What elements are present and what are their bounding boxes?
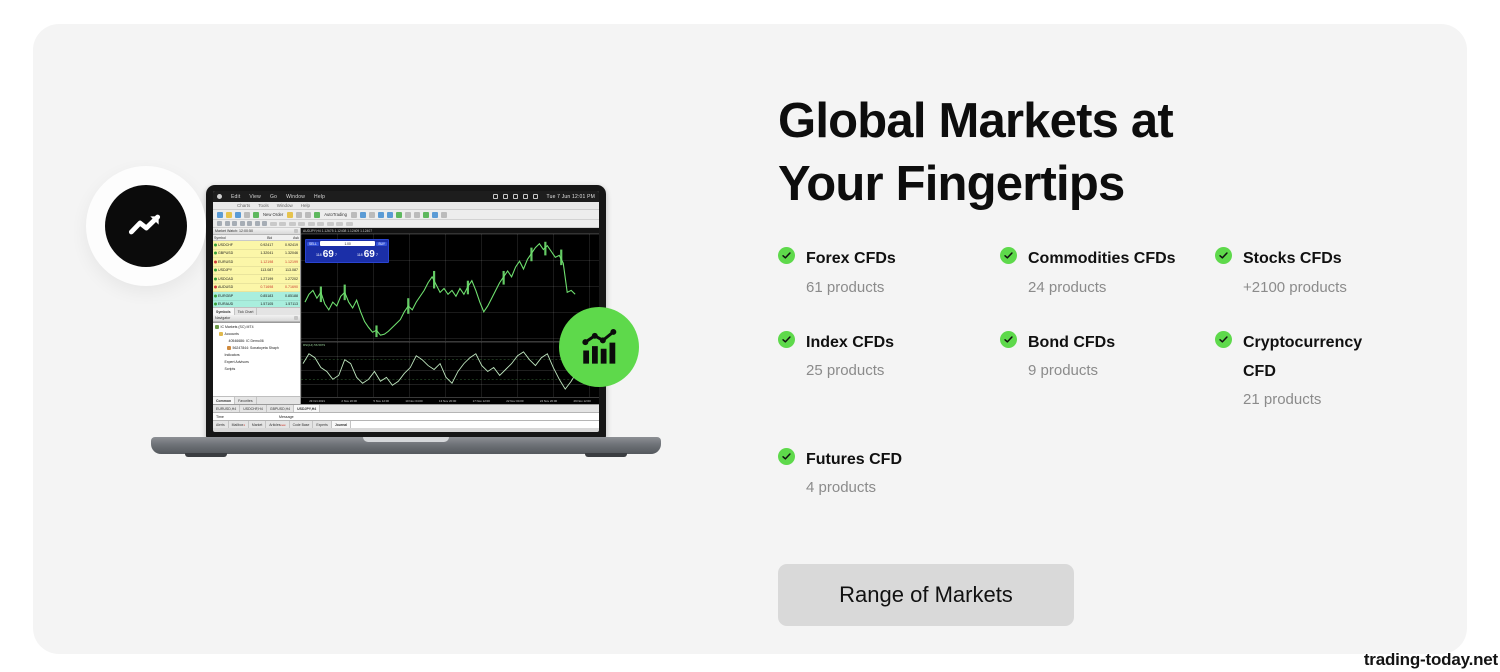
hero-content: Global Markets at Your Fingertips Forex … — [778, 90, 1467, 626]
menubar-clock: Tue 7 Jun 12:01 PM — [547, 194, 595, 200]
ask-cell: 1.32046 — [273, 251, 300, 255]
indicator-icon — [219, 353, 223, 357]
timeframe-mn[interactable] — [346, 222, 353, 226]
tab-favorites[interactable]: Favorites — [235, 397, 256, 404]
bid-cell: 1.27199 — [247, 277, 274, 281]
folder-icon — [219, 332, 223, 336]
feature-count: 21 products — [1243, 386, 1393, 415]
menubar-item-help[interactable]: Help — [314, 194, 325, 200]
trendline-icon[interactable] — [232, 221, 237, 226]
feature-item[interactable]: Bond CFDs 9 products — [1000, 328, 1215, 415]
column-bid: Bid — [247, 235, 274, 240]
feature-text: Forex CFDs 61 products — [806, 244, 896, 302]
siri-icon[interactable] — [533, 194, 538, 199]
symbol-cell: EURAUD — [213, 302, 247, 306]
chart-time-axis: 29 Oct 20212 Nov 20:005 Nov 12:0010 Nov … — [301, 397, 599, 404]
navigator-row[interactable]: Accounts — [213, 330, 300, 337]
time-axis-label: 29 Oct 2021 — [309, 399, 325, 403]
feature-count: 61 products — [806, 274, 896, 303]
menubar-item-go[interactable]: Go — [270, 194, 277, 200]
features-grid: Forex CFDs 61 products Commodities CFDs … — [778, 244, 1467, 414]
symbol-cell: USDCHF — [213, 243, 247, 247]
feature-text: Commodities CFDs 24 products — [1028, 244, 1176, 302]
account-icon — [223, 339, 227, 343]
data-window-icon[interactable] — [244, 212, 250, 218]
oct-buy-prefix: 118 — [357, 253, 363, 257]
feature-item[interactable]: Cryptocurrency CFD 21 products — [1215, 328, 1467, 415]
time-axis-label: 13 Nov 20:00 — [439, 399, 456, 403]
control-center-icon[interactable] — [513, 194, 518, 199]
check-circle-icon — [778, 331, 795, 348]
navigator-titlebar: Navigator — [213, 315, 300, 322]
chart-tab-usdjpy[interactable]: USDJPY,H4 — [294, 405, 320, 412]
symbol-cell: AUDUSD — [213, 285, 247, 289]
timeframe-m30[interactable] — [298, 222, 305, 226]
navigator-title: Navigator — [215, 316, 230, 320]
feature-text: Cryptocurrency CFD 21 products — [1243, 328, 1393, 415]
menubar-item-window[interactable]: Window — [286, 194, 305, 200]
ask-cell: 113.087 — [273, 268, 300, 272]
indicators-icon[interactable] — [423, 212, 429, 218]
articles-badge: new — [280, 423, 285, 427]
check-circle-icon — [1000, 247, 1017, 264]
time-axis-label: 17 Nov 12:00 — [473, 399, 490, 403]
navigator-label: 56247844: Sonatoyeta Shaph — [233, 346, 279, 350]
navigator-row[interactable]: Indicators — [213, 351, 300, 358]
macbook-mockup: Edit View Go Window Help — [206, 185, 606, 445]
timeframe-h1[interactable] — [308, 222, 315, 226]
screen-icon[interactable] — [503, 194, 508, 199]
feature-count: 25 products — [806, 357, 894, 386]
appmenu-item-window[interactable]: Window — [277, 203, 293, 208]
feature-count: 4 products — [806, 474, 902, 503]
feature-text: Bond CFDs 9 products — [1028, 328, 1115, 386]
mac-menubar: Edit View Go Window Help — [213, 191, 599, 202]
feature-count: 9 products — [1028, 357, 1115, 386]
check-circle-icon — [1215, 331, 1232, 348]
bid-cell: 113.087 — [247, 268, 274, 272]
time-axis-label: 22 Nov 04:00 — [506, 399, 523, 403]
apple-logo-icon — [217, 194, 222, 199]
autotrading-icon[interactable] — [314, 212, 320, 218]
market-watch-icon[interactable] — [235, 212, 241, 218]
headline-line-2: Your Fingertips — [778, 157, 1124, 211]
trending-badge — [86, 166, 206, 286]
auto-scroll-icon[interactable] — [396, 212, 402, 218]
ask-cell: 0.71690 — [273, 285, 300, 289]
feature-name: Stocks CFDs — [1243, 244, 1347, 273]
terminal-column-time: Time — [213, 415, 273, 419]
navigator-tabs: Common Favorites — [213, 396, 300, 404]
symbol-cell: EURUSD — [213, 260, 247, 264]
feature-name: Forex CFDs — [806, 244, 896, 273]
tab-common[interactable]: Common — [213, 397, 235, 404]
terminal-tab-code-base[interactable]: Code Base — [290, 421, 314, 428]
time-axis-label: 5 Nov 12:00 — [373, 399, 389, 403]
navigator-label: Expert Advisors — [225, 360, 249, 364]
navigator-label: Indicators — [225, 353, 240, 357]
chart-tab-usdchf[interactable]: USDCHF,H4 — [240, 405, 267, 412]
zoom-in-icon[interactable] — [378, 212, 384, 218]
time-axis-label: 24 Nov 20:00 — [540, 399, 557, 403]
market-watch-rows: USDCHF0.924170.92419GBPUSD1.320411.32046… — [213, 241, 300, 307]
mt4-chart-area: AUDJPY,H4 1.12675 1.12408 1.12409 1.1240… — [301, 228, 599, 404]
strategy-tester-icon[interactable] — [305, 212, 311, 218]
feature-item[interactable]: Stocks CFDs +2100 products — [1215, 244, 1467, 302]
ask-cell: 1.12199 — [273, 260, 300, 264]
user-icon — [227, 346, 231, 350]
feature-item[interactable]: Index CFDs 25 products — [778, 328, 1000, 415]
market-watch-row[interactable]: EURGBP0.851830.85188 — [213, 292, 300, 301]
laptop-screen: Edit View Go Window Help — [213, 191, 599, 432]
navigator-row[interactable]: 40546686: IC Demo06 — [213, 337, 300, 344]
oct-buy-sup: 7 — [376, 252, 378, 257]
laptop-foot-left — [185, 453, 227, 457]
print-icon[interactable] — [296, 212, 302, 218]
templates-icon[interactable] — [441, 212, 447, 218]
oct-controls: SELL 1.00 BUY — [306, 240, 388, 247]
oct-prices: 118 69 7 118 69 7 — [306, 247, 388, 262]
ask-cell: 0.92419 — [273, 243, 300, 247]
trending-badge-inner — [105, 185, 187, 267]
chart-badge — [559, 307, 639, 387]
trending-up-icon — [126, 206, 166, 246]
market-watch-panel[interactable]: Symbol Bid Ask USDCHF0.924170.92419GBPUS… — [213, 235, 300, 307]
channel-icon[interactable] — [240, 221, 245, 226]
mt4-workspace: Market Watch: 12:00:50 Symbol Bid Ask — [213, 228, 599, 404]
timeframe-m1[interactable] — [270, 222, 277, 226]
mailbox-badge: 1 — [243, 423, 245, 427]
root-icon — [215, 325, 219, 329]
feature-text: Stocks CFDs +2100 products — [1243, 244, 1347, 302]
appmenu-item-help[interactable]: Help — [301, 203, 310, 208]
chart-title: AUDJPY,H4 1.12675 1.12408 1.12409 1.1240… — [303, 229, 372, 233]
ask-cell: 1.27202 — [273, 277, 300, 281]
rsi-series — [301, 342, 599, 397]
terminal-tab-experts[interactable]: Experts — [313, 421, 332, 428]
crosshair-icon[interactable] — [225, 221, 230, 226]
label-tool-icon[interactable] — [255, 221, 260, 226]
feature-count: +2100 products — [1243, 274, 1347, 303]
profiles-icon[interactable] — [226, 212, 232, 218]
navigator-row[interactable]: Scripts — [213, 365, 300, 372]
navigator-label: IC Markets (SC) MT4 — [221, 325, 254, 329]
navigator-row[interactable]: IC Markets (SC) MT4 — [213, 323, 300, 330]
feature-item[interactable]: Forex CFDs 61 products — [778, 244, 1000, 302]
indicator-subchart[interactable]: RSI(14) 56.5979 — [301, 341, 599, 397]
feature-name: Index CFDs — [806, 328, 894, 357]
bid-cell: 0.85183 — [247, 294, 274, 298]
terminal-header: Time Message — [213, 412, 599, 420]
terminal-tab-market[interactable]: Market — [249, 421, 266, 428]
tab-symbols[interactable]: Symbols — [213, 308, 235, 315]
navigator-row[interactable]: 56247844: Sonatoyeta Shaph — [213, 344, 300, 351]
feature-name: Commodities CFDs — [1028, 244, 1176, 273]
oct-sell-sup: 7 — [335, 252, 337, 257]
symbol-cell: EURGBP — [213, 294, 247, 298]
mt4-left-dock: Market Watch: 12:00:50 Symbol Bid Ask — [213, 228, 301, 404]
timeframe-m15[interactable] — [289, 222, 296, 226]
menubar-item-view[interactable]: View — [249, 194, 261, 200]
oct-sell-big: 69 — [323, 250, 334, 260]
zoom-out-icon[interactable] — [387, 212, 393, 218]
bid-cell: 1.57105 — [247, 302, 274, 306]
laptop-base — [151, 437, 661, 454]
oct-buy-label[interactable]: BUY — [376, 242, 387, 246]
bid-cell: 1.32041 — [247, 251, 274, 255]
menubar-status-icons — [493, 194, 538, 199]
navigator-label: Accounts — [225, 332, 239, 336]
feature-name: Cryptocurrency CFD — [1243, 328, 1393, 386]
timeframe-w1[interactable] — [336, 222, 343, 226]
oct-sell-label[interactable]: SELL — [307, 242, 319, 246]
feature-item[interactable]: Commodities CFDs 24 products — [1000, 244, 1215, 302]
oct-volume-input[interactable]: 1.00 — [320, 241, 376, 246]
one-click-trading-panel[interactable]: SELL 1.00 BUY 118 69 — [305, 239, 389, 263]
time-axis-label: 29 Nov 12:00 — [574, 399, 591, 403]
new-order-icon[interactable] — [253, 212, 259, 218]
menubar-item-edit[interactable]: Edit — [231, 194, 240, 200]
feature-text: Futures CFD 4 products — [806, 445, 902, 503]
tab-tick-chart[interactable]: Tick Chart — [235, 308, 258, 315]
grid-icon[interactable] — [414, 212, 420, 218]
battery-icon[interactable] — [493, 194, 498, 199]
ask-cell: 0.85188 — [273, 294, 300, 298]
chart-shift-icon[interactable] — [405, 212, 411, 218]
time-axis-label: 2 Nov 20:00 — [341, 399, 357, 403]
indicator-icon — [219, 367, 223, 371]
appmenu-item-charts[interactable]: Charts — [237, 203, 250, 208]
range-of-markets-button[interactable]: Range of Markets — [778, 564, 1074, 626]
close-icon[interactable] — [294, 229, 298, 233]
timeframe-m5[interactable] — [279, 222, 286, 226]
market-watch-row[interactable]: EURUSD1.121981.12199 — [213, 258, 300, 267]
symbol-cell: GBPUSD — [213, 251, 247, 255]
market-watch-titlebar: Market Watch: 12:00:50 — [213, 228, 300, 235]
chart-tab-eurusd[interactable]: EURUSD,H4 — [213, 405, 240, 412]
cursor-icon[interactable] — [217, 221, 222, 226]
oct-buy-price[interactable]: 118 69 7 — [347, 247, 388, 262]
navigator-row[interactable]: Expert Advisors — [213, 358, 300, 365]
bid-cell: 0.71698 — [247, 285, 274, 289]
market-watch-row[interactable]: AUDUSD0.716980.71690 — [213, 284, 300, 293]
terminal-input-area[interactable] — [351, 421, 599, 428]
market-watch-tabs: Symbols Tick Chart — [213, 307, 300, 315]
oct-buy-big: 69 — [364, 250, 375, 260]
text-tool-icon[interactable] — [247, 221, 252, 226]
hero-card: Edit View Go Window Help — [33, 24, 1467, 654]
column-symbol: Symbol — [213, 235, 247, 240]
navigator-label: Scripts — [225, 367, 236, 371]
market-watch-row[interactable]: USDCAD1.271991.27202 — [213, 275, 300, 284]
bar-chart-icon — [578, 326, 620, 368]
terminal-column-message: Message — [273, 415, 294, 419]
laptop-lid: Edit View Go Window Help — [206, 185, 606, 439]
page-root: Edit View Go Window Help — [0, 0, 1500, 672]
price-chart[interactable]: SELL 1.00 BUY 118 69 — [301, 234, 599, 341]
bid-cell: 1.12198 — [247, 260, 274, 264]
market-watch-title: Market Watch: 12:00:50 — [215, 229, 253, 233]
feature-item[interactable]: Futures CFD 4 products — [778, 445, 1467, 503]
market-watch-row[interactable]: USDJPY113.087113.087 — [213, 267, 300, 276]
search-icon[interactable] — [523, 194, 528, 199]
check-circle-icon — [778, 448, 795, 465]
timeframes-icon[interactable] — [432, 212, 438, 218]
watermark: trading-today.net — [1364, 650, 1498, 670]
line-chart-type-icon[interactable] — [369, 212, 375, 218]
laptop-foot-right — [585, 453, 627, 457]
check-circle-icon — [1000, 331, 1017, 348]
candle-chart-type-icon[interactable] — [360, 212, 366, 218]
mt4-line-studies-toolbar — [213, 220, 599, 228]
chart-window-tabs: EURUSD,H4USDCHF,H4GBPUSD,H4USDJPY,H4 — [213, 404, 599, 412]
market-watch-row[interactable]: USDCHF0.924170.92419 — [213, 241, 300, 250]
check-circle-icon — [778, 247, 795, 264]
headline-line-1: Global Markets at — [778, 94, 1173, 148]
close-icon[interactable] — [294, 316, 298, 320]
feature-name: Futures CFD — [806, 445, 902, 474]
terminal-tabs: AlertsMailbox1MarketArticlesnewCode Base… — [213, 420, 599, 428]
oct-sell-price[interactable]: 118 69 7 — [306, 247, 347, 262]
timeframe-d1[interactable] — [327, 222, 334, 226]
chart-tab-gbpusd[interactable]: GBPUSD,H4 — [267, 405, 294, 412]
feature-text: Index CFDs 25 products — [806, 328, 894, 386]
mt4-app-menu: Charts Tools Window Help — [213, 202, 599, 210]
navigator-panel[interactable]: IC Markets (SC) MT4Accounts40546686: IC … — [213, 322, 300, 396]
arrow-tool-icon[interactable] — [262, 221, 267, 226]
page-title: Global Markets at Your Fingertips — [778, 90, 1467, 215]
chart-tabs-filler — [320, 405, 599, 412]
terminal-tab-articles[interactable]: Articlesnew — [266, 421, 289, 428]
autotrading-label[interactable]: AutoTrading — [323, 212, 348, 217]
feature-count: 24 products — [1028, 274, 1176, 303]
laptop-visual: Edit View Go Window Help — [73, 144, 733, 544]
metaeditor-icon[interactable] — [287, 212, 293, 218]
terminal-tab-mailbox[interactable]: Mailbox1 — [229, 421, 249, 428]
terminal-tab-journal[interactable]: Journal — [332, 421, 351, 428]
time-axis-label: 10 Nov 04:00 — [405, 399, 422, 403]
feature-name: Bond CFDs — [1028, 328, 1115, 357]
new-order-label[interactable]: New Order — [262, 212, 284, 217]
market-watch-row[interactable]: GBPUSD1.320411.32046 — [213, 250, 300, 259]
ask-cell: 1.57113 — [273, 302, 300, 306]
symbol-cell: USDCAD — [213, 277, 247, 281]
navigator-label: 40546686: IC Demo06 — [229, 339, 264, 343]
timeframe-h4[interactable] — [317, 222, 324, 226]
symbol-cell: USDJPY — [213, 268, 247, 272]
bar-chart-type-icon[interactable] — [351, 212, 357, 218]
new-chart-icon[interactable] — [217, 212, 223, 218]
navigator-tree: IC Markets (SC) MT4Accounts40546686: IC … — [213, 323, 300, 372]
terminal-tab-alerts[interactable]: Alerts — [213, 421, 229, 428]
check-circle-icon — [1215, 247, 1232, 264]
mt4-main-toolbar: New Order AutoTrading — [213, 210, 599, 220]
bid-cell: 0.92417 — [247, 243, 274, 247]
appmenu-item-tools[interactable]: Tools — [258, 203, 269, 208]
indicator-icon — [219, 360, 223, 364]
oct-sell-prefix: 118 — [316, 253, 322, 257]
column-ask: Ask — [273, 235, 300, 240]
